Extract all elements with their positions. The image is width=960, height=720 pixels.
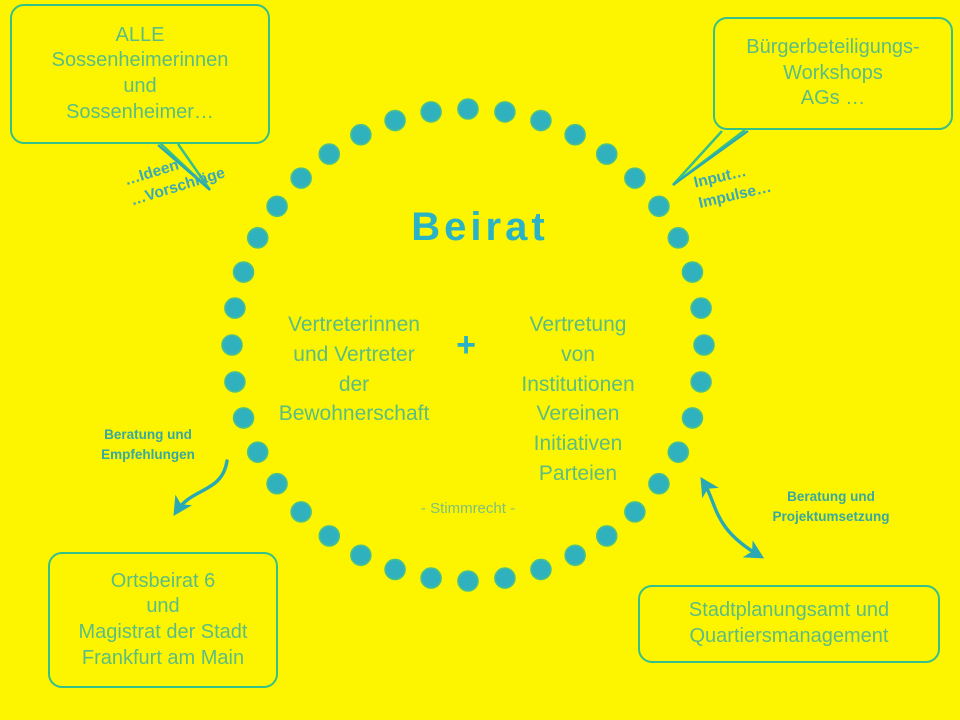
circle-dot [222, 335, 242, 355]
circle-dot [458, 571, 478, 591]
circle-dot [565, 545, 585, 565]
speech-bubble-citizens-text: ALLE Sossenheimerinnen und Sossenheimer… [12, 23, 268, 125]
beirat-title: Beirat [0, 205, 960, 250]
circle-dot [495, 102, 515, 122]
arrow-to-ortsbeirat [176, 461, 227, 512]
circle-dot [248, 442, 268, 462]
circle-dot [682, 408, 702, 428]
circle-dot [225, 298, 245, 318]
circle-dot [694, 335, 714, 355]
circle-dot [319, 144, 339, 164]
annotation-beratung-projektumsetzung: Beratung und Projektumsetzung [748, 487, 914, 526]
circle-dot [691, 298, 711, 318]
circle-dot [421, 568, 441, 588]
circle-dot [691, 372, 711, 392]
circle-dot [267, 474, 287, 494]
circle-dot [625, 168, 645, 188]
speech-bubble-participation-formats: Bürgerbeteiligungs- Workshops AGs … [713, 17, 953, 130]
circle-dot [234, 262, 254, 282]
circle-dot [385, 559, 405, 579]
circle-dot [385, 111, 405, 131]
circle-dot [234, 408, 254, 428]
circle-dot [291, 168, 311, 188]
circle-dot [531, 559, 551, 579]
beirat-members-residents: Vertreterinnen und Vertreter der Bewohne… [268, 310, 440, 429]
speech-bubble-citizens: ALLE Sossenheimerinnen und Sossenheimer… [10, 4, 270, 144]
circle-dot [682, 262, 702, 282]
circle-dot [351, 125, 371, 145]
circle-dot [597, 144, 617, 164]
circle-dot [421, 102, 441, 122]
circle-dot [495, 568, 515, 588]
annotation-beratung-empfehlungen: Beratung und Empfehlungen [78, 425, 218, 464]
circle-dot [597, 526, 617, 546]
box-stadtplanungsamt-quartiersmanagement-text: Stadtplanungsamt und Quartiersmanagement [640, 598, 938, 649]
circle-dot [291, 502, 311, 522]
circle-dot [225, 372, 245, 392]
box-stadtplanungsamt-quartiersmanagement: Stadtplanungsamt und Quartiersmanagement [638, 585, 940, 663]
circle-dot [625, 502, 645, 522]
diagram-canvas: ALLE Sossenheimerinnen und Sossenheimer…… [0, 0, 960, 720]
circle-dot [565, 125, 585, 145]
circle-dot [319, 526, 339, 546]
circle-dot [531, 111, 551, 131]
speech-bubble-participation-formats-text: Bürgerbeteiligungs- Workshops AGs … [715, 35, 951, 112]
circle-dot [668, 442, 688, 462]
plus-icon: + [448, 328, 484, 362]
stimmrecht-note: - Stimmrecht - [348, 500, 588, 517]
circle-dot [458, 99, 478, 119]
box-ortsbeirat-magistrat-text: Ortsbeirat 6 und Magistrat der Stadt Fra… [50, 569, 276, 671]
box-ortsbeirat-magistrat: Ortsbeirat 6 und Magistrat der Stadt Fra… [48, 552, 278, 688]
circle-dot [351, 545, 371, 565]
beirat-members-institutions: Vertretung von Institutionen Vereinen In… [494, 310, 662, 489]
